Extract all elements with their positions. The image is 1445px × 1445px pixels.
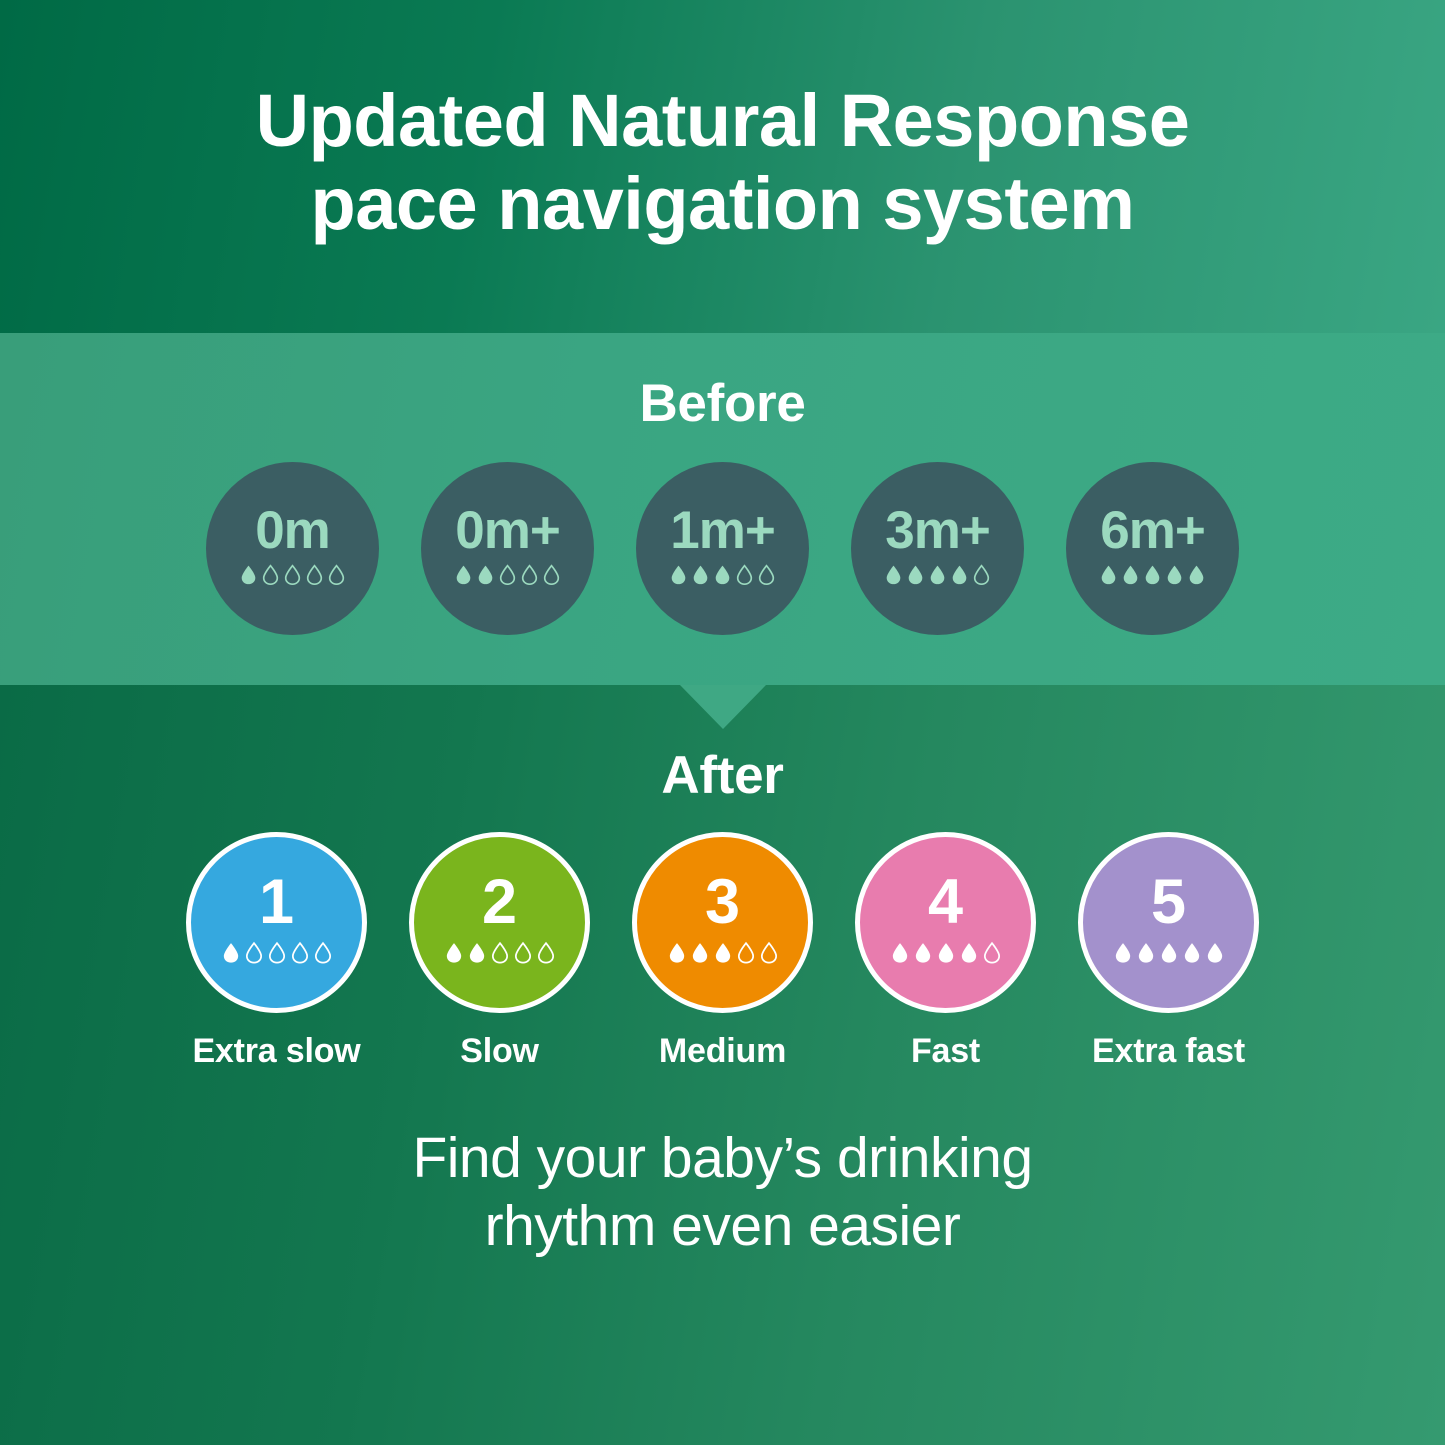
water-drop-icon <box>906 563 925 587</box>
water-drop-icon <box>1205 940 1225 966</box>
after-pace-label: Extra fast <box>1092 1032 1245 1070</box>
after-item-5[interactable]: 5Extra fast <box>1078 832 1259 1070</box>
water-drop-icon <box>536 940 556 966</box>
water-drop-icon <box>267 940 287 966</box>
water-drop-icon <box>759 940 779 966</box>
footer-caption: Find your baby’s drinking rhythm even ea… <box>412 1124 1032 1261</box>
water-drop-icon <box>283 563 302 587</box>
water-drop-icon <box>691 563 710 587</box>
page-title: Updated Natural Response pace navigation… <box>196 80 1250 246</box>
after-pace-number: 1 <box>259 871 294 934</box>
water-drop-icon <box>490 940 510 966</box>
after-circle-row: 1Extra slow2Slow3Medium4Fast5Extra fast <box>186 832 1259 1070</box>
after-drop-rating <box>444 940 556 966</box>
before-age-label: 6m+ <box>1100 504 1205 557</box>
water-drop-icon <box>757 563 776 587</box>
water-drop-icon <box>950 563 969 587</box>
water-drop-icon <box>454 563 473 587</box>
before-drop-rating <box>239 561 346 587</box>
water-drop-icon <box>1187 563 1206 587</box>
water-drop-icon <box>327 563 346 587</box>
water-drop-icon <box>513 940 533 966</box>
before-drop-rating <box>884 561 991 587</box>
footer-caption-line-2: rhythm even easier <box>412 1192 1032 1260</box>
water-drop-icon <box>690 940 710 966</box>
water-drop-icon <box>669 563 688 587</box>
before-section: Before 0m0m+1m+3m+6m+ <box>0 333 1445 685</box>
before-heading: Before <box>639 373 805 434</box>
before-circle-0m[interactable]: 0m <box>206 462 379 635</box>
before-circle-3mplus[interactable]: 3m+ <box>851 462 1024 635</box>
after-circle-1[interactable]: 1 <box>186 832 367 1013</box>
after-circle-2[interactable]: 2 <box>409 832 590 1013</box>
after-circle-4[interactable]: 4 <box>855 832 1036 1013</box>
before-drop-rating <box>1099 561 1206 587</box>
before-age-label: 0m+ <box>455 504 560 557</box>
before-circle-0mplus[interactable]: 0m+ <box>421 462 594 635</box>
water-drop-icon <box>1136 940 1156 966</box>
water-drop-icon <box>928 563 947 587</box>
after-item-3[interactable]: 3Medium <box>632 832 813 1070</box>
water-drop-icon <box>1121 563 1140 587</box>
water-drop-icon <box>735 563 754 587</box>
after-drop-rating <box>890 940 1002 966</box>
water-drop-icon <box>221 940 241 966</box>
after-drop-rating <box>667 940 779 966</box>
after-pace-label: Fast <box>911 1032 980 1070</box>
water-drop-icon <box>1113 940 1133 966</box>
water-drop-icon <box>290 940 310 966</box>
before-age-label: 3m+ <box>885 504 990 557</box>
before-circle-6mplus[interactable]: 6m+ <box>1066 462 1239 635</box>
after-heading: After <box>661 745 783 806</box>
water-drop-icon <box>713 563 732 587</box>
water-drop-icon <box>913 940 933 966</box>
water-drop-icon <box>467 940 487 966</box>
before-circle-1mplus[interactable]: 1m+ <box>636 462 809 635</box>
before-age-label: 0m <box>255 504 330 557</box>
infographic-poster: Updated Natural Response pace navigation… <box>0 0 1445 1445</box>
before-drop-rating <box>454 561 561 587</box>
water-drop-icon <box>239 563 258 587</box>
water-drop-icon <box>1159 940 1179 966</box>
page-title-line-1: Updated Natural Response <box>256 80 1190 163</box>
after-item-4[interactable]: 4Fast <box>855 832 1036 1070</box>
water-drop-icon <box>542 563 561 587</box>
water-drop-icon <box>982 940 1002 966</box>
water-drop-icon <box>884 563 903 587</box>
after-pace-number: 4 <box>928 871 963 934</box>
before-age-label: 1m+ <box>670 504 775 557</box>
after-item-1[interactable]: 1Extra slow <box>186 832 367 1070</box>
before-drop-rating <box>669 561 776 587</box>
after-item-2[interactable]: 2Slow <box>409 832 590 1070</box>
water-drop-icon <box>972 563 991 587</box>
water-drop-icon <box>244 940 264 966</box>
water-drop-icon <box>936 940 956 966</box>
after-pace-label: Slow <box>460 1032 539 1070</box>
water-drop-icon <box>736 940 756 966</box>
water-drop-icon <box>1099 563 1118 587</box>
after-drop-rating <box>1113 940 1225 966</box>
after-circle-5[interactable]: 5 <box>1078 832 1259 1013</box>
water-drop-icon <box>444 940 464 966</box>
water-drop-icon <box>476 563 495 587</box>
water-drop-icon <box>890 940 910 966</box>
water-drop-icon <box>959 940 979 966</box>
after-circle-3[interactable]: 3 <box>632 832 813 1013</box>
water-drop-icon <box>498 563 517 587</box>
footer-caption-line-1: Find your baby’s drinking <box>412 1124 1032 1192</box>
after-pace-label: Extra slow <box>192 1032 360 1070</box>
after-pace-label: Medium <box>659 1032 786 1070</box>
water-drop-icon <box>261 563 280 587</box>
header-banner: Updated Natural Response pace navigation… <box>0 0 1445 333</box>
after-drop-rating <box>221 940 333 966</box>
water-drop-icon <box>1182 940 1202 966</box>
after-pace-number: 2 <box>482 871 517 934</box>
water-drop-icon <box>305 563 324 587</box>
water-drop-icon <box>1165 563 1184 587</box>
before-circle-row: 0m0m+1m+3m+6m+ <box>206 462 1239 635</box>
water-drop-icon <box>713 940 733 966</box>
water-drop-icon <box>1143 563 1162 587</box>
water-drop-icon <box>667 940 687 966</box>
after-pace-number: 3 <box>705 871 740 934</box>
water-drop-icon <box>520 563 539 587</box>
page-title-line-2: pace navigation system <box>256 163 1190 246</box>
after-section: After 1Extra slow2Slow3Medium4Fast5Extra… <box>0 685 1445 1445</box>
after-pace-number: 5 <box>1151 871 1186 934</box>
water-drop-icon <box>313 940 333 966</box>
